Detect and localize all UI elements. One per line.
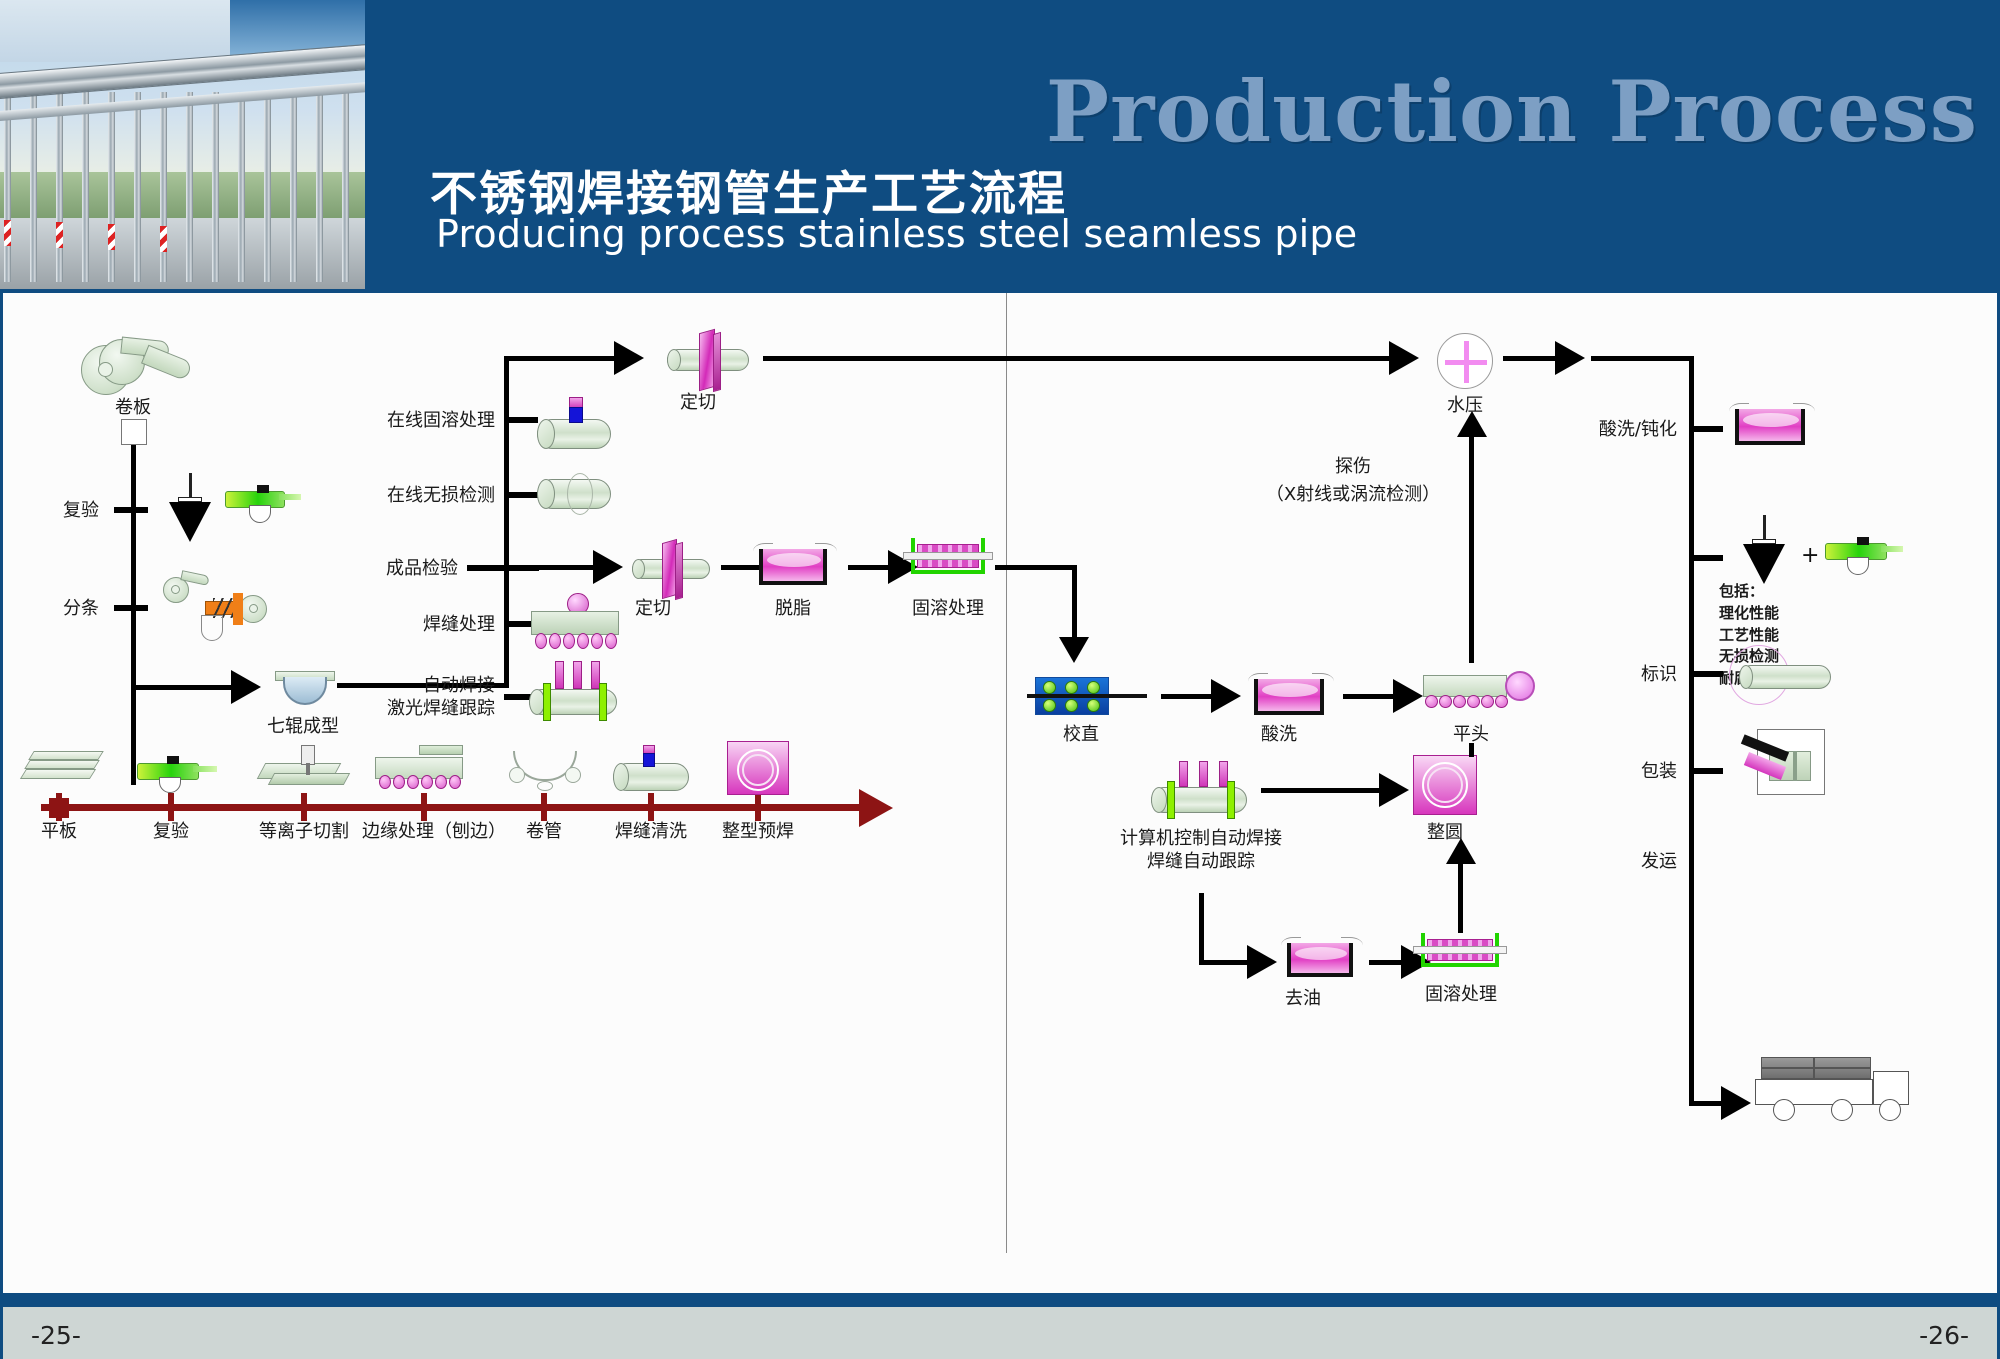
label-cut-top: 定切 xyxy=(680,391,716,414)
arrow-to-cut-top xyxy=(614,341,644,375)
weld-seam-treatment-icon xyxy=(531,593,621,651)
performance-test-icon: + xyxy=(1735,515,1925,577)
label-ndt-detail: （Ⅹ射线或涡流检测） xyxy=(1266,483,1440,506)
plasma-cut-icon xyxy=(261,745,349,793)
tick-pickling-passivation xyxy=(1689,426,1723,432)
edge-planing-icon xyxy=(375,745,471,793)
line-degrease-to-solution xyxy=(848,565,888,570)
label-auto-welding: 自动焊接 激光焊缝跟踪 xyxy=(387,674,495,720)
tick-slitting xyxy=(114,605,148,611)
page-number-left: -25- xyxy=(31,1321,81,1350)
label-degrease: 脱脂 xyxy=(775,597,811,620)
label-pipe-rolling: 卷管 xyxy=(526,820,562,843)
arrow-top-to-hydro xyxy=(1389,341,1419,375)
line-into-right-spine xyxy=(1591,356,1693,361)
pipe-rolling-icon xyxy=(511,751,579,791)
rail-tick-recheck xyxy=(168,793,174,821)
online-solution-icon xyxy=(537,397,615,449)
line-spine-to-truck xyxy=(1689,1101,1723,1106)
label-coil-plate: 卷板 xyxy=(115,396,151,419)
online-ndt-icon xyxy=(537,473,615,515)
straightening-icon xyxy=(1035,673,1147,719)
arrow-down-to-straighten xyxy=(1059,637,1089,663)
flat-plate-icon xyxy=(25,751,109,789)
passivation-bath-icon xyxy=(1729,401,1815,449)
process-flow-diagram: 卷板 复验 分条 七辊成型 xyxy=(0,293,2000,1293)
line-final-inspection-out xyxy=(533,565,597,570)
mid-spine-vertical xyxy=(504,356,509,688)
left-main-vertical xyxy=(131,445,136,698)
bottom-rail-line xyxy=(41,804,861,811)
shipping-truck-icon xyxy=(1751,1057,1911,1127)
label-pickling-passivation: 酸洗/钝化 xyxy=(1599,418,1677,441)
arrow-pickling-to-facing xyxy=(1393,679,1423,713)
tick-packing xyxy=(1689,768,1723,774)
label-seam-cleaning: 焊缝清洗 xyxy=(615,820,687,843)
rounding-icon xyxy=(1413,755,1479,817)
page-title-english: Production Process xyxy=(1046,62,1978,161)
label-marking: 标识 xyxy=(1641,663,1677,686)
pickling-bath-icon xyxy=(1248,671,1334,717)
left-branch-down xyxy=(131,693,136,785)
label-cnc-welding: 计算机控制自动焊接 焊缝自动跟踪 xyxy=(1120,827,1282,873)
label-preweld-forming: 整型预焊 xyxy=(722,820,794,843)
arrow-to-deoil xyxy=(1247,945,1277,979)
packing-icon xyxy=(1727,725,1847,803)
line-top-to-hydro xyxy=(763,356,1389,361)
label-rail-recheck: 复验 xyxy=(153,820,189,843)
rail-tick-rolling xyxy=(541,793,547,821)
header-photo-railing xyxy=(0,0,367,289)
tick-recheck xyxy=(114,507,148,513)
label-packing: 包装 xyxy=(1641,760,1677,783)
label-online-ndt: 在线无损检测 xyxy=(387,484,495,507)
solution-treatment-icon xyxy=(911,538,989,584)
slide-header: Production Process 不锈钢焊接钢管生产工艺流程 Produci… xyxy=(0,0,2000,293)
label-shipping: 发运 xyxy=(1641,850,1677,873)
label-deoiling: 去油 xyxy=(1285,987,1321,1010)
label-ndt-title: 探伤 xyxy=(1335,455,1371,478)
arrow-hydro-to-right xyxy=(1555,341,1585,375)
tick-online-ndt xyxy=(504,492,538,498)
seven-roll-forming-icon xyxy=(275,671,335,709)
panel-divider xyxy=(1006,293,1007,1253)
label-pickling: 酸洗 xyxy=(1261,723,1297,746)
label-cut-bottom: 定切 xyxy=(635,597,671,620)
slitting-icon xyxy=(163,571,283,639)
line-solution-to-straighten xyxy=(995,565,1077,570)
arrow-to-truck xyxy=(1721,1086,1751,1120)
label-solution-treatment: 固溶处理 xyxy=(912,597,984,620)
rail-recheck-icon xyxy=(137,753,217,793)
label-edge-planing: 边缘处理（刨边） xyxy=(362,820,506,843)
recheck-flask-icon xyxy=(163,473,219,525)
preweld-forming-icon xyxy=(727,741,791,797)
auto-welding-icon xyxy=(529,661,621,723)
seam-cleaning-icon xyxy=(613,745,693,795)
arrow-weld-to-round xyxy=(1379,773,1409,807)
arrow-to-forming xyxy=(231,670,261,704)
label-seven-roll-forming: 七辊成型 xyxy=(267,715,339,738)
coil-node-box xyxy=(121,419,147,445)
cut-to-length-bottom-icon xyxy=(628,541,714,597)
end-facing-icon xyxy=(1423,669,1533,719)
line-facing-up-to-hydro xyxy=(1469,433,1474,663)
line-pickling-to-facing xyxy=(1343,694,1393,699)
coil-plate-icon xyxy=(81,331,191,393)
label-solution-treatment-2: 固溶处理 xyxy=(1425,983,1497,1006)
arrow-solution2-up xyxy=(1446,838,1476,864)
left-branch-right xyxy=(131,685,231,690)
degrease-bath-icon xyxy=(753,541,837,587)
hydro-test-icon xyxy=(1437,333,1493,389)
photo-railing-posts xyxy=(0,92,367,289)
line-deoil-to-solution2 xyxy=(1369,960,1401,965)
page-subtitle: Producing process stainless steel seamle… xyxy=(436,212,1357,256)
rail-tick-plasma-cut xyxy=(301,793,307,821)
line-weld-branch-right xyxy=(1199,960,1247,965)
label-online-solution-treatment: 在线固溶处理 xyxy=(387,409,495,432)
line-down-to-straighten xyxy=(1072,565,1077,637)
solution-treatment-2-icon xyxy=(1421,933,1503,977)
tick-performance-test xyxy=(1689,555,1723,561)
line-weld-to-round xyxy=(1261,788,1379,793)
line-round-up-to-endfacing xyxy=(1469,743,1474,757)
label-recheck: 复验 xyxy=(63,499,99,522)
label-flat-plate: 平板 xyxy=(41,820,77,843)
label-weld-seam-treatment: 焊缝处理 xyxy=(423,613,495,636)
page-number-right: -26- xyxy=(1919,1321,1969,1350)
mid-spine-to-forming xyxy=(337,683,392,688)
label-straightening: 校直 xyxy=(1063,723,1099,746)
right-spine-vertical xyxy=(1689,356,1694,1106)
line-hydro-to-right xyxy=(1503,356,1555,361)
recheck-tester-icon xyxy=(225,483,293,527)
label-slitting: 分条 xyxy=(63,597,99,620)
cnc-welding-icon xyxy=(1151,761,1251,823)
footer-accent-bar xyxy=(0,1293,2000,1307)
deoiling-bath-icon xyxy=(1281,935,1363,981)
rail-tick-preweld xyxy=(755,793,761,821)
tick-final-inspection xyxy=(467,565,539,571)
mid-spine-top xyxy=(504,356,614,361)
marking-icon xyxy=(1729,645,1839,707)
label-hydro-test: 水压 xyxy=(1447,394,1483,417)
rail-tick-edge-planing xyxy=(421,793,427,821)
tick-online-solution xyxy=(504,417,538,423)
rail-tick-seam-cleaning xyxy=(648,793,654,821)
cut-to-length-top-icon xyxy=(663,331,753,389)
arrow-straighten-to-pickling xyxy=(1211,679,1241,713)
slide-footer: -25- -26- xyxy=(0,1307,2000,1359)
line-straighten-to-pickling xyxy=(1161,694,1211,699)
label-final-inspection: 成品检验 xyxy=(386,557,458,580)
tick-marking xyxy=(1689,671,1723,677)
rail-tick-flat-plate xyxy=(56,793,62,821)
line-solution2-up-to-round xyxy=(1458,861,1463,933)
label-plasma-cut: 等离子切割 xyxy=(259,820,349,843)
arrow-to-cut-bottom xyxy=(593,550,623,584)
line-weld-branch-down xyxy=(1199,893,1204,965)
arrow-rail-to-welding xyxy=(859,789,893,827)
